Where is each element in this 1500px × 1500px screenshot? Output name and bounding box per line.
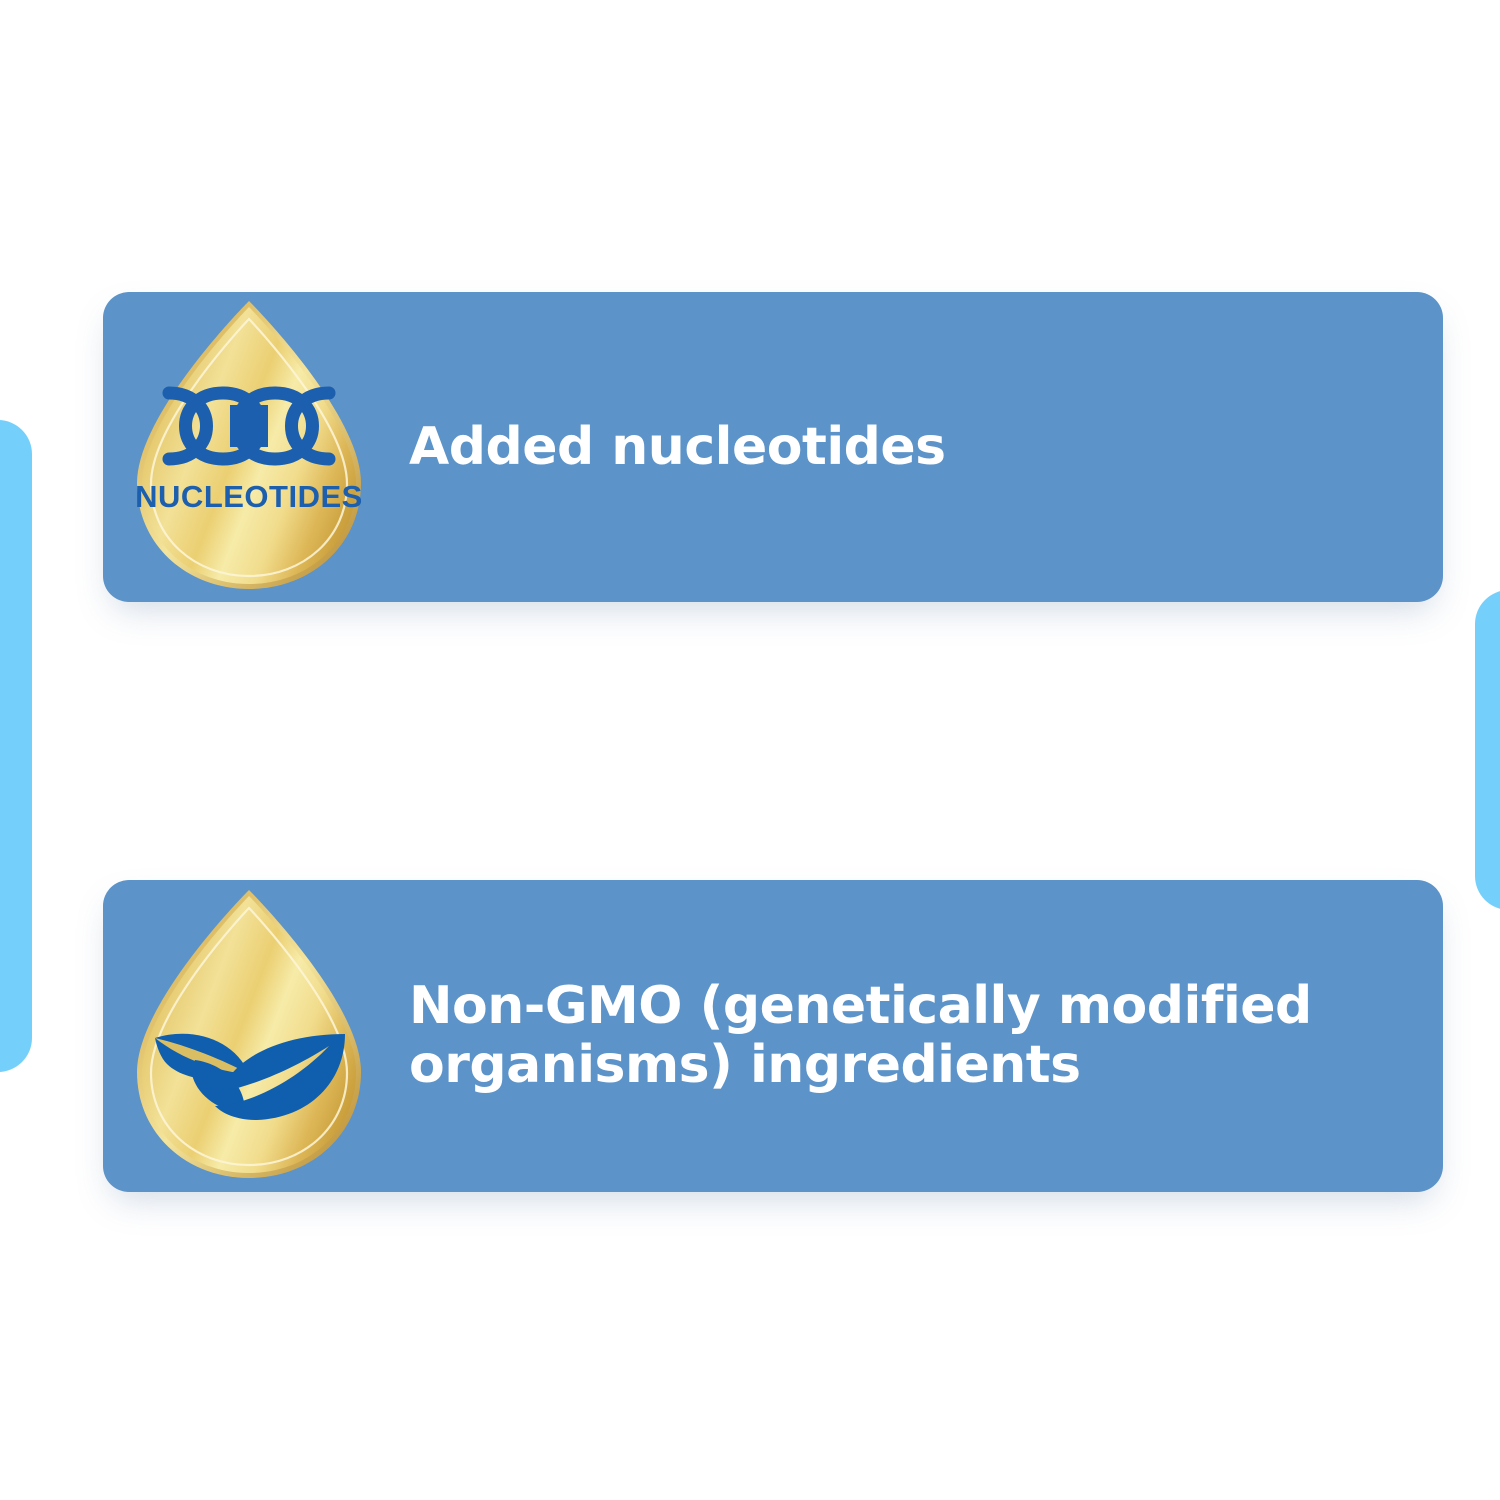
left-accent-bar (0, 420, 32, 1072)
teardrop-svg (125, 297, 373, 593)
teardrop-svg (125, 886, 373, 1182)
feature-card-added-nucleotides[interactable]: NUCLEOTIDES Added nucleotides (103, 292, 1443, 602)
right-accent-bar (1475, 590, 1500, 910)
nucleotides-badge: NUCLEOTIDES (125, 297, 373, 593)
gold-teardrop-shape (125, 297, 373, 593)
feature-card-non-gmo[interactable]: Non-GMO (genetically modified organisms)… (103, 880, 1443, 1192)
card-label-added-nucleotides: Added nucleotides (409, 418, 986, 476)
page-root: NUCLEOTIDES Added nucleotides (0, 0, 1500, 1500)
non-gmo-badge (125, 886, 373, 1182)
gold-teardrop-shape (125, 886, 373, 1182)
card-label-non-gmo: Non-GMO (genetically modified organisms)… (409, 977, 1409, 1096)
